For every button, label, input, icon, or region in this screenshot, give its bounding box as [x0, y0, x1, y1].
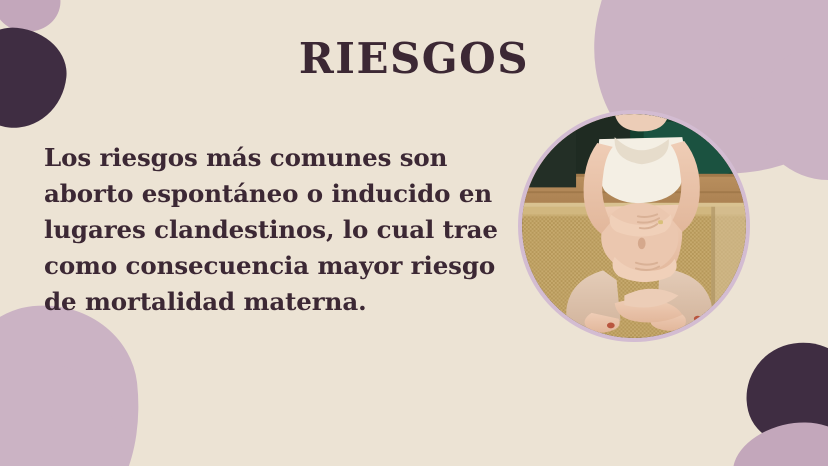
pregnancy-photo [518, 110, 750, 342]
decorative-blob-bottom-right-dark [735, 331, 828, 459]
slide-body-text: Los riesgos más comunes son aborto espon… [44, 140, 504, 320]
decorative-blob-bottom-left-mauve [0, 296, 151, 466]
decorative-blob-top-left-mauve [0, 0, 67, 40]
slide-title: RIESGOS [0, 38, 828, 80]
decorative-blob-bottom-left-mauve-2 [0, 366, 120, 466]
pregnancy-photo-illustration [522, 114, 746, 338]
pregnancy-photo-image [522, 114, 746, 338]
slide-canvas: RIESGOS Los riesgos más comunes son abor… [0, 0, 828, 466]
decorative-blob-bottom-right-mauve [724, 411, 828, 466]
